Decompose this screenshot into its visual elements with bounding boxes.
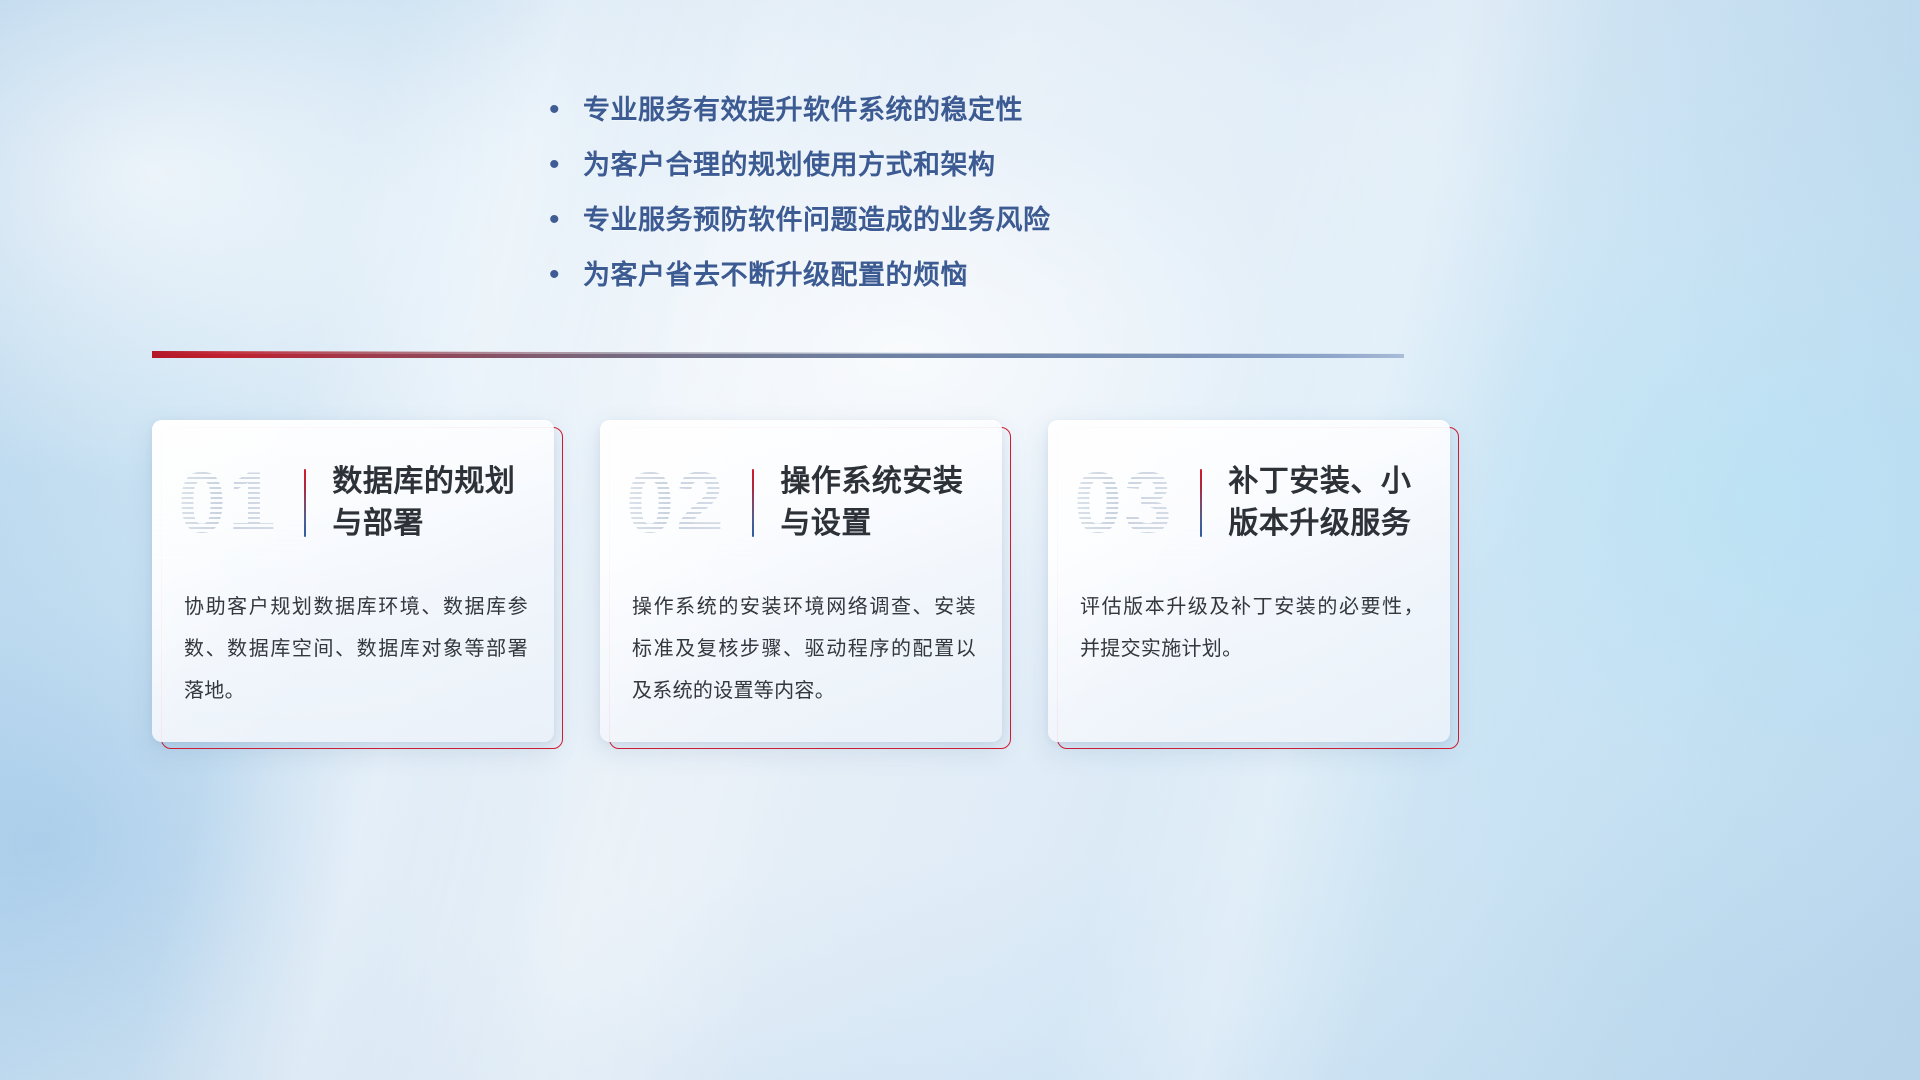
- benefits-bullet-list: • 专业服务有效提升软件系统的稳定性 • 为客户合理的规划使用方式和架构 • 专…: [545, 92, 1285, 312]
- card-header: 03 补丁安装、小版本升级服务: [1048, 442, 1450, 564]
- service-card[interactable]: 02 操作系统安装与设置 操作系统的安装环境网络调查、安装标准及复核步骤、驱动程…: [600, 420, 1002, 742]
- bullet-marker-icon: •: [545, 257, 583, 293]
- card-surface[interactable]: 03 补丁安装、小版本升级服务 评估版本升级及补丁安装的必要性，并提交实施计划。: [1048, 420, 1450, 742]
- section-divider: [152, 347, 1404, 363]
- divider-highlight: [152, 351, 1404, 354]
- bullet-marker-icon: •: [545, 147, 583, 183]
- card-title: 数据库的规划与部署: [306, 461, 554, 545]
- bullet-label: 专业服务有效提升软件系统的稳定性: [583, 92, 1023, 128]
- service-card[interactable]: 03 补丁安装、小版本升级服务 评估版本升级及补丁安装的必要性，并提交实施计划。: [1048, 420, 1450, 742]
- service-card[interactable]: 01 数据库的规划与部署 协助客户规划数据库环境、数据库参数、数据库空间、数据库…: [152, 420, 554, 742]
- bullet-label: 为客户省去不断升级配置的烦恼: [583, 257, 968, 293]
- card-description: 协助客户规划数据库环境、数据库参数、数据库空间、数据库对象等部署落地。: [184, 586, 528, 712]
- bullet-item: • 为客户省去不断升级配置的烦恼: [545, 257, 1285, 293]
- card-description: 评估版本升级及补丁安装的必要性，并提交实施计划。: [1080, 586, 1424, 670]
- card-number-watermark: 02: [600, 447, 752, 559]
- bullet-marker-icon: •: [545, 202, 583, 238]
- card-description: 操作系统的安装环境网络调查、安装标准及复核步骤、驱动程序的配置以及系统的设置等内…: [632, 586, 976, 712]
- card-header: 02 操作系统安装与设置: [600, 442, 1002, 564]
- card-header: 01 数据库的规划与部署: [152, 442, 554, 564]
- bullet-item: • 专业服务有效提升软件系统的稳定性: [545, 92, 1285, 128]
- card-title: 操作系统安装与设置: [754, 461, 1002, 545]
- service-card-row: 01 数据库的规划与部署 协助客户规划数据库环境、数据库参数、数据库空间、数据库…: [152, 420, 1452, 745]
- slide-canvas: • 专业服务有效提升软件系统的稳定性 • 为客户合理的规划使用方式和架构 • 专…: [0, 0, 1920, 1080]
- card-surface[interactable]: 01 数据库的规划与部署 协助客户规划数据库环境、数据库参数、数据库空间、数据库…: [152, 420, 554, 742]
- card-title: 补丁安装、小版本升级服务: [1202, 461, 1450, 545]
- bullet-item: • 为客户合理的规划使用方式和架构: [545, 147, 1285, 183]
- bullet-label: 为客户合理的规划使用方式和架构: [583, 147, 996, 183]
- card-number-watermark: 03: [1048, 447, 1200, 559]
- bullet-marker-icon: •: [545, 92, 583, 128]
- bullet-item: • 专业服务预防软件问题造成的业务风险: [545, 202, 1285, 238]
- bullet-label: 专业服务预防软件问题造成的业务风险: [583, 202, 1051, 238]
- card-number-watermark: 01: [152, 447, 304, 559]
- card-surface[interactable]: 02 操作系统安装与设置 操作系统的安装环境网络调查、安装标准及复核步骤、驱动程…: [600, 420, 1002, 742]
